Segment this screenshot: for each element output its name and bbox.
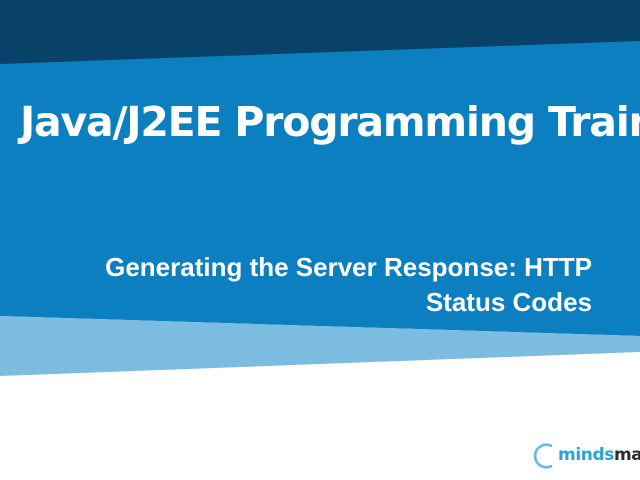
slide-subtitle: Generating the Server Response: HTTP Sta… [42,250,592,320]
logo-wordmark: mindsmapped [558,444,640,466]
slide-content: Java/J2EE Programming Training Generatin… [0,0,640,480]
presentation-slide: Java/J2EE Programming Training Generatin… [0,0,640,480]
logo-text-mapped: mapped [614,445,640,465]
logo-text-minds: minds [558,445,614,465]
subtitle-line-2: Status Codes [42,285,592,320]
subtitle-line-1: Generating the Server Response: HTTP [42,250,592,285]
mindsmapped-logo: mindsmapped [523,440,629,472]
page-title: Java/J2EE Programming Training [20,98,620,146]
